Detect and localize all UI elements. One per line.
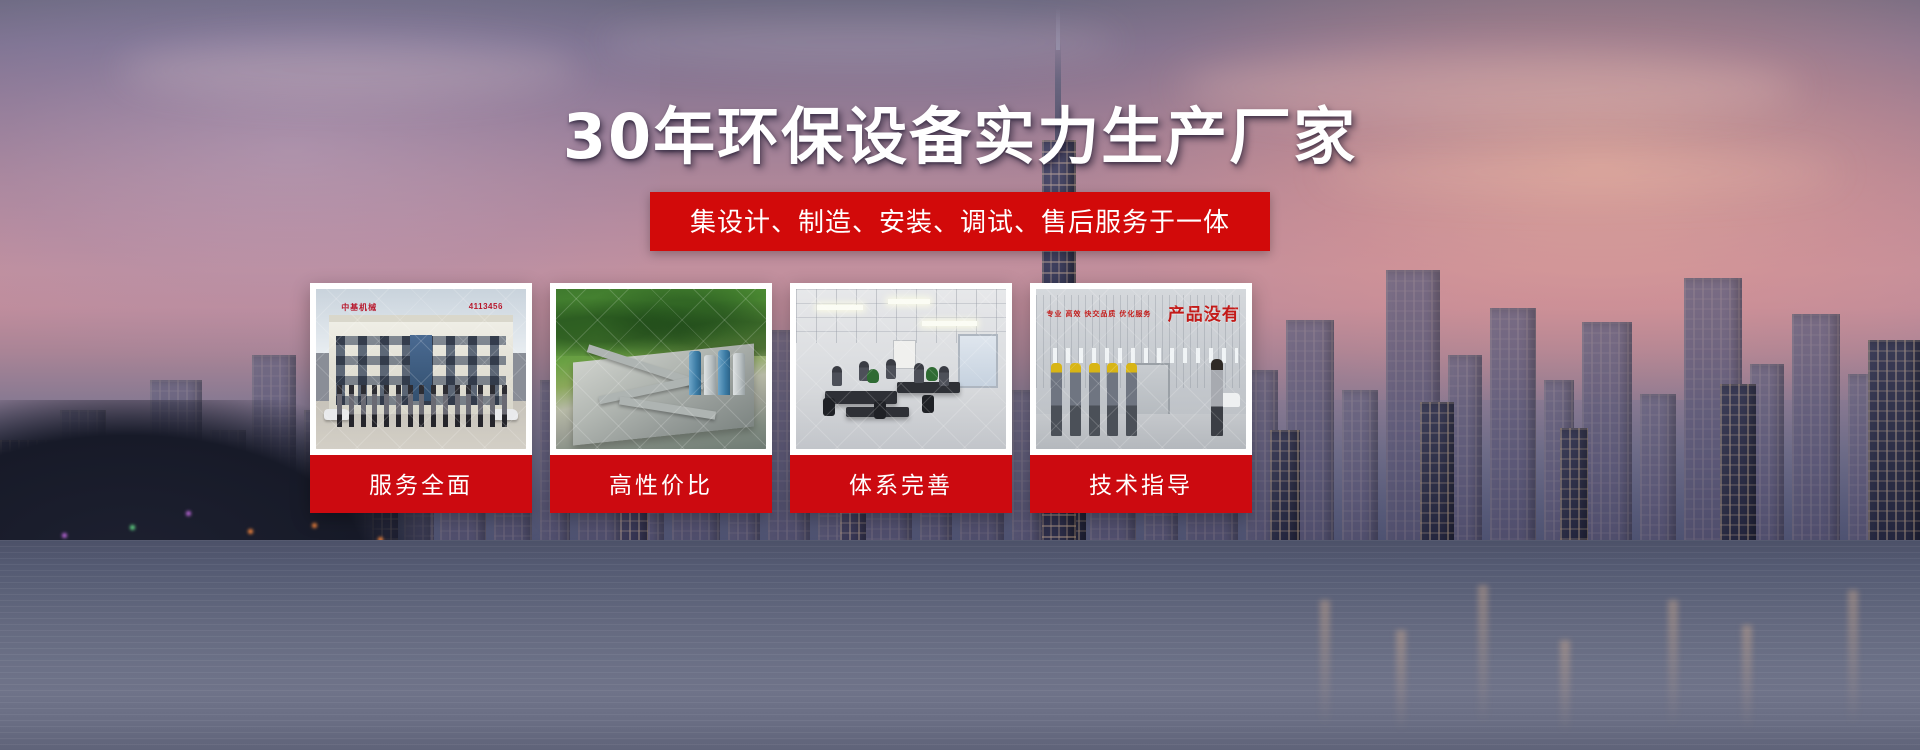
hero-subtitle-wrap: 集设计、制造、安装、调试、售后服务于一体: [0, 192, 1920, 251]
building-sign-text: 中基机械: [341, 302, 377, 313]
hero-subtitle-banner: 集设计、制造、安装、调试、售后服务于一体: [650, 192, 1270, 251]
aerial-factory-plant-photo: [556, 289, 766, 449]
staff-row: [337, 385, 505, 427]
feature-card[interactable]: 产品没有 专业 高效 快交品质 优化服务 技术指导: [1030, 283, 1252, 513]
factory-workers-training-photo: 产品没有 专业 高效 快交品质 优化服务: [1036, 289, 1246, 449]
office-interior-staff-photo: [796, 289, 1006, 449]
feature-card[interactable]: 高性价比: [550, 283, 772, 513]
feature-card-list: 中基机械 4113456 服务全面: [310, 283, 1555, 513]
tower-antenna: [1056, 8, 1060, 50]
factory-slogan-text: 专业 高效 快交品质 优化服务: [1047, 310, 1152, 319]
river-water: [0, 540, 1920, 750]
feature-card-label: 高性价比: [550, 455, 772, 513]
feature-card-label: 体系完善: [790, 455, 1012, 513]
hero-banner: 30年环保设备实力生产厂家 集设计、制造、安装、调试、售后服务于一体 中基机械 …: [0, 0, 1920, 750]
feature-card-label: 技术指导: [1030, 455, 1252, 513]
feature-card[interactable]: 体系完善: [790, 283, 1012, 513]
factory-banner-text: 产品没有: [1168, 300, 1240, 325]
company-office-building-photo: 中基机械 4113456: [316, 289, 526, 449]
building-phone-text: 4113456: [469, 302, 503, 311]
feature-card[interactable]: 中基机械 4113456 服务全面: [310, 283, 532, 513]
hero-headline: 30年环保设备实力生产厂家: [0, 104, 1920, 169]
feature-card-label: 服务全面: [310, 455, 532, 513]
